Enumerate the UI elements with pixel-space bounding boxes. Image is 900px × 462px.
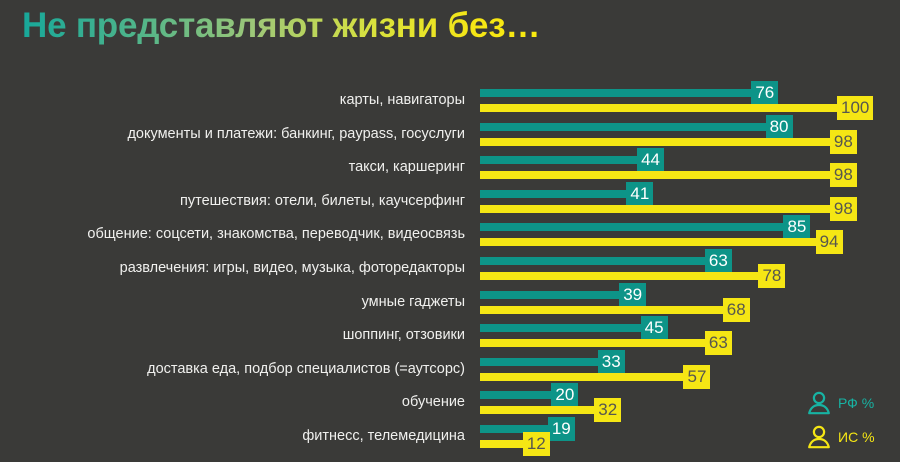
bar-value-primary: 80 (766, 115, 793, 139)
bar-group: 3968 (480, 286, 900, 320)
chart-row: умные гаджеты3968 (0, 286, 900, 320)
chart-row: такси, каршеринг4498 (0, 151, 900, 185)
chart-row: развлечения: игры, видео, музыка, фоторе… (0, 252, 900, 286)
category-label: фитнесс, телемедицина (302, 420, 465, 454)
bar-value-secondary: 98 (830, 197, 857, 221)
bar-secondary (480, 339, 705, 347)
bar-value-primary: 44 (637, 148, 664, 172)
bar-value-secondary: 32 (594, 398, 621, 422)
bar-secondary (480, 171, 830, 179)
bar-primary (480, 123, 766, 131)
bar-secondary (480, 104, 837, 112)
bar-value-primary: 76 (751, 81, 778, 105)
bar-group: 8594 (480, 218, 900, 252)
bar-value-primary: 41 (626, 182, 653, 206)
bar-secondary (480, 306, 723, 314)
bar-group: 76100 (480, 84, 900, 118)
category-label: общение: соцсети, знакомства, переводчик… (87, 218, 465, 252)
legend-item-is: ИС % (806, 420, 900, 454)
bar-group: 4498 (480, 151, 900, 185)
chart-row: карты, навигаторы76100 (0, 84, 900, 118)
bar-primary (480, 358, 598, 366)
bar-value-secondary: 94 (816, 230, 843, 254)
bar-primary (480, 324, 641, 332)
bar-value-primary: 85 (783, 215, 810, 239)
bar-value-primary: 63 (705, 249, 732, 273)
chart-row: документы и платежи: банкинг, paypass, г… (0, 118, 900, 152)
category-label: документы и платежи: банкинг, paypass, г… (127, 118, 465, 152)
bar-value-primary: 45 (641, 316, 668, 340)
category-label: доставка еда, подбор специалистов (=аутс… (147, 353, 465, 387)
category-label: шоппинг, отзовики (343, 319, 465, 353)
bar-secondary (480, 238, 816, 246)
bar-group: 6378 (480, 252, 900, 286)
category-label: развлечения: игры, видео, музыка, фоторе… (120, 252, 465, 286)
legend-label-is: ИС % (838, 429, 875, 445)
category-label: умные гаджеты (362, 286, 465, 320)
bar-secondary (480, 205, 830, 213)
bar-value-primary: 20 (551, 383, 578, 407)
bar-value-secondary: 78 (758, 264, 785, 288)
person-icon (806, 390, 832, 416)
category-label: такси, каршеринг (349, 151, 465, 185)
bar-chart: карты, навигаторы76100документы и платеж… (0, 84, 900, 454)
bar-value-primary: 33 (598, 350, 625, 374)
bar-value-primary: 19 (548, 417, 575, 441)
person-icon (806, 424, 832, 450)
bar-value-secondary: 100 (837, 96, 873, 120)
bar-primary (480, 156, 637, 164)
bar-primary (480, 391, 551, 399)
bar-primary (480, 291, 619, 299)
bar-secondary (480, 373, 683, 381)
bar-value-secondary: 98 (830, 163, 857, 187)
bar-secondary (480, 272, 758, 280)
bar-group: 3357 (480, 353, 900, 387)
page-title: Не представляют жизни без… (22, 6, 540, 46)
category-label: путешествия: отели, билеты, каучсерфинг (180, 185, 465, 219)
chart-row: путешествия: отели, билеты, каучсерфинг4… (0, 185, 900, 219)
chart-row: общение: соцсети, знакомства, переводчик… (0, 218, 900, 252)
bar-group: 8098 (480, 118, 900, 152)
legend-item-rf: РФ % (806, 386, 900, 420)
chart-row: шоппинг, отзовики4563 (0, 319, 900, 353)
bar-primary (480, 190, 626, 198)
bar-group: 4563 (480, 319, 900, 353)
bar-value-primary: 39 (619, 283, 646, 307)
bar-value-secondary: 68 (723, 298, 750, 322)
legend-label-rf: РФ % (838, 395, 874, 411)
bar-primary (480, 89, 751, 97)
bar-primary (480, 223, 783, 231)
bar-value-secondary: 98 (830, 130, 857, 154)
category-label: карты, навигаторы (340, 84, 465, 118)
bar-value-secondary: 12 (523, 432, 550, 456)
bar-secondary (480, 406, 594, 414)
bar-secondary (480, 138, 830, 146)
bar-primary (480, 257, 705, 265)
chart-row: фитнесс, телемедицина1912 (0, 420, 900, 454)
bar-value-secondary: 63 (705, 331, 732, 355)
category-label: обучение (402, 386, 465, 420)
bar-value-secondary: 57 (683, 365, 710, 389)
bar-group: 4198 (480, 185, 900, 219)
chart-legend: РФ % ИС % (806, 386, 900, 454)
bar-secondary (480, 440, 523, 448)
chart-row: доставка еда, подбор специалистов (=аутс… (0, 353, 900, 387)
chart-row: обучение2032 (0, 386, 900, 420)
